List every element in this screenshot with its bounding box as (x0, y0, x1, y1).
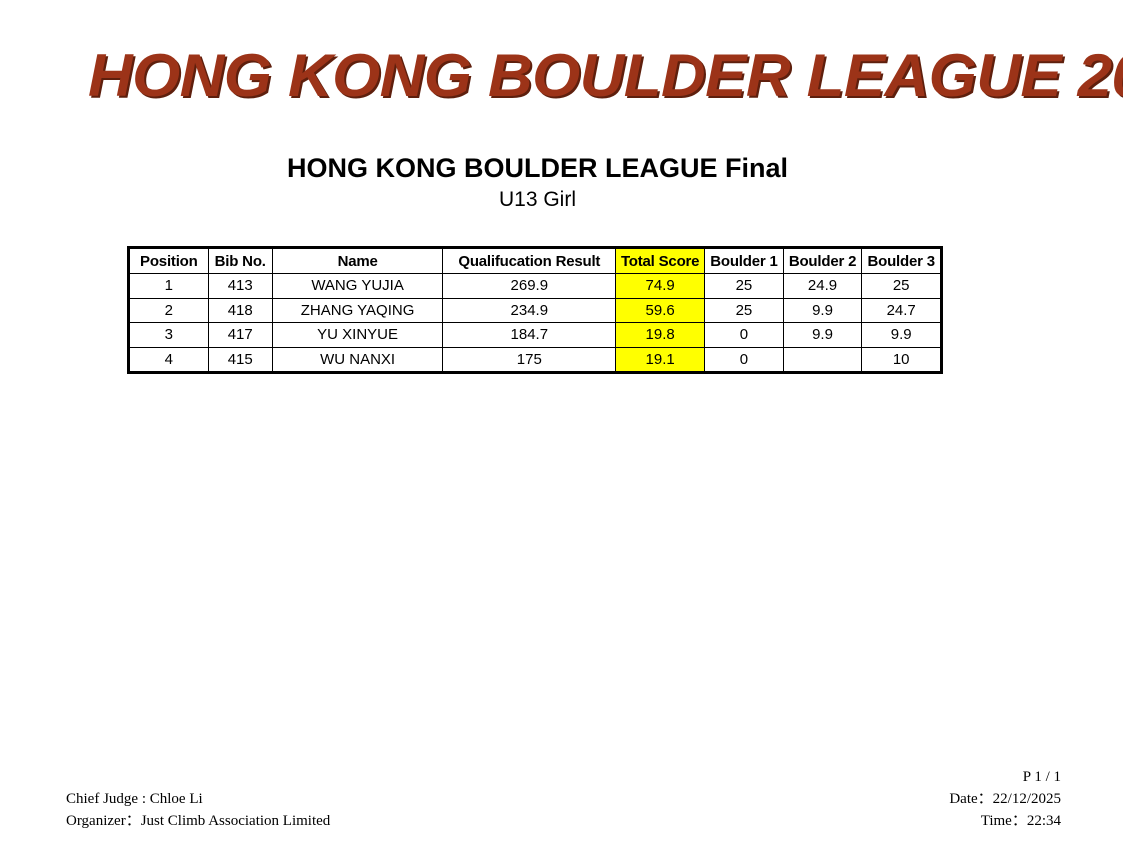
cell-bib-no: 417 (208, 323, 272, 348)
cell-qualification-result: 234.9 (443, 298, 616, 323)
results-table-container: Position Bib No. Name Qualifucation Resu… (127, 246, 943, 374)
results-table: Position Bib No. Name Qualifucation Resu… (127, 246, 943, 374)
footer-left-block: Chief Judge : Chloe Li Organizer：Just Cl… (66, 788, 330, 832)
cell-boulder-3: 9.9 (862, 323, 942, 348)
event-logo-banner: HONG KONG BOULDER LEAGUE 2025 (88, 40, 1038, 112)
cell-qualification-result: 175 (443, 347, 616, 373)
column-header-bib-no: Bib No. (208, 248, 272, 274)
page-title-block: HONG KONG BOULDER LEAGUE Final U13 Girl (0, 152, 1075, 214)
cell-qualification-result: 184.7 (443, 323, 616, 348)
cell-total-score: 59.6 (616, 298, 705, 323)
cell-boulder-2: 9.9 (783, 298, 862, 323)
cell-position: 1 (129, 274, 209, 299)
cell-bib-no: 418 (208, 298, 272, 323)
date-line: Date：22/12/2025 (949, 788, 1061, 810)
column-header-qualification-result: Qualifucation Result (443, 248, 616, 274)
cell-boulder-1: 25 (705, 298, 784, 323)
footer-right-block: P 1 / 1 Date：22/12/2025 Time：22:34 (949, 766, 1061, 832)
cell-boulder-2: 24.9 (783, 274, 862, 299)
column-header-boulder-1: Boulder 1 (705, 248, 784, 274)
cell-position: 4 (129, 347, 209, 373)
table-row: 4 415 WU NANXI 175 19.1 0 10 (129, 347, 942, 373)
page-title: HONG KONG BOULDER LEAGUE Final (0, 152, 1075, 184)
time-line: Time：22:34 (949, 810, 1061, 832)
cell-total-score: 19.8 (616, 323, 705, 348)
results-table-body: 1 413 WANG YUJIA 269.9 74.9 25 24.9 25 2… (129, 274, 942, 373)
column-header-total-score: Total Score (616, 248, 705, 274)
table-row: 2 418 ZHANG YAQING 234.9 59.6 25 9.9 24.… (129, 298, 942, 323)
cell-boulder-3: 24.7 (862, 298, 942, 323)
chief-judge-line: Chief Judge : Chloe Li (66, 788, 330, 810)
cell-position: 2 (129, 298, 209, 323)
cell-boulder-2 (783, 347, 862, 373)
cell-name: YU XINYUE (272, 323, 443, 348)
column-header-boulder-3: Boulder 3 (862, 248, 942, 274)
cell-boulder-2: 9.9 (783, 323, 862, 348)
cell-boulder-3: 10 (862, 347, 942, 373)
cell-boulder-3: 25 (862, 274, 942, 299)
cell-bib-no: 413 (208, 274, 272, 299)
table-row: 1 413 WANG YUJIA 269.9 74.9 25 24.9 25 (129, 274, 942, 299)
cell-boulder-1: 0 (705, 323, 784, 348)
cell-total-score: 19.1 (616, 347, 705, 373)
cell-bib-no: 415 (208, 347, 272, 373)
cell-qualification-result: 269.9 (443, 274, 616, 299)
page-number: P 1 / 1 (949, 766, 1061, 788)
column-header-boulder-2: Boulder 2 (783, 248, 862, 274)
results-table-header: Position Bib No. Name Qualifucation Resu… (129, 248, 942, 274)
table-header-row: Position Bib No. Name Qualifucation Resu… (129, 248, 942, 274)
organizer-line: Organizer：Just Climb Association Limited (66, 810, 330, 832)
cell-name: WANG YUJIA (272, 274, 443, 299)
column-header-position: Position (129, 248, 209, 274)
cell-boulder-1: 0 (705, 347, 784, 373)
cell-boulder-1: 25 (705, 274, 784, 299)
cell-position: 3 (129, 323, 209, 348)
page-subtitle: U13 Girl (0, 186, 1075, 214)
cell-name: ZHANG YAQING (272, 298, 443, 323)
column-header-name: Name (272, 248, 443, 274)
cell-total-score: 74.9 (616, 274, 705, 299)
table-row: 3 417 YU XINYUE 184.7 19.8 0 9.9 9.9 (129, 323, 942, 348)
cell-name: WU NANXI (272, 347, 443, 373)
event-logo-text: HONG KONG BOULDER LEAGUE 2025 (88, 45, 1123, 107)
